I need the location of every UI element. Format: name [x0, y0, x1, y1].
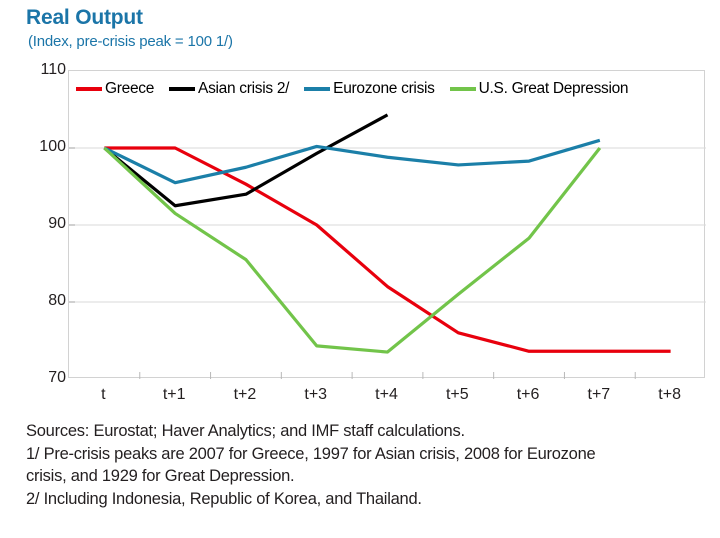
footnote-1-line-2: crisis, and 1929 for Great Depression. [26, 465, 716, 488]
legend-item: Greece [76, 80, 154, 98]
x-tick-label: t+5 [422, 386, 493, 410]
footnote-sources: Sources: Eurostat; Haver Analytics; and … [26, 420, 716, 443]
y-tick-label: 70 [10, 369, 66, 387]
x-tick-label: t+7 [563, 386, 634, 410]
y-tick-label: 90 [10, 215, 66, 233]
x-tick-label: t+2 [210, 386, 281, 410]
series-line [104, 140, 599, 182]
footnote-1-line-1: 1/ Pre-crisis peaks are 2007 for Greece,… [26, 443, 716, 466]
x-tick-label: t+3 [280, 386, 351, 410]
legend-item: U.S. Great Depression [450, 80, 629, 98]
y-tick-label: 100 [10, 138, 66, 156]
y-tick-label: 110 [10, 61, 66, 79]
y-tick-label: 80 [10, 292, 66, 310]
series-line [104, 148, 599, 352]
footnote-2: 2/ Including Indonesia, Republic of Kore… [26, 488, 716, 511]
x-axis: tt+1t+2t+3t+4t+5t+6t+7t+8 [68, 386, 705, 410]
plot-area [68, 70, 705, 378]
x-tick-label: t+1 [139, 386, 210, 410]
legend-label: Eurozone crisis [333, 80, 434, 98]
legend-label: Asian crisis 2/ [198, 80, 289, 98]
x-tick-label: t+8 [634, 386, 705, 410]
footnotes: Sources: Eurostat; Haver Analytics; and … [26, 420, 716, 510]
legend-item: Eurozone crisis [304, 80, 434, 98]
x-tick-label: t [68, 386, 139, 410]
legend-line-swatch [169, 87, 195, 91]
legend-label: U.S. Great Depression [479, 80, 629, 98]
series-line [104, 115, 387, 206]
x-tick-label: t+6 [493, 386, 564, 410]
x-tick-label: t+4 [351, 386, 422, 410]
chart-lines [69, 71, 706, 379]
chart-legend: GreeceAsian crisis 2/Eurozone crisisU.S.… [76, 80, 696, 98]
legend-label: Greece [105, 80, 154, 98]
legend-line-swatch [304, 87, 330, 91]
legend-item: Asian crisis 2/ [169, 80, 289, 98]
legend-line-swatch [450, 87, 476, 91]
legend-line-swatch [76, 87, 102, 91]
